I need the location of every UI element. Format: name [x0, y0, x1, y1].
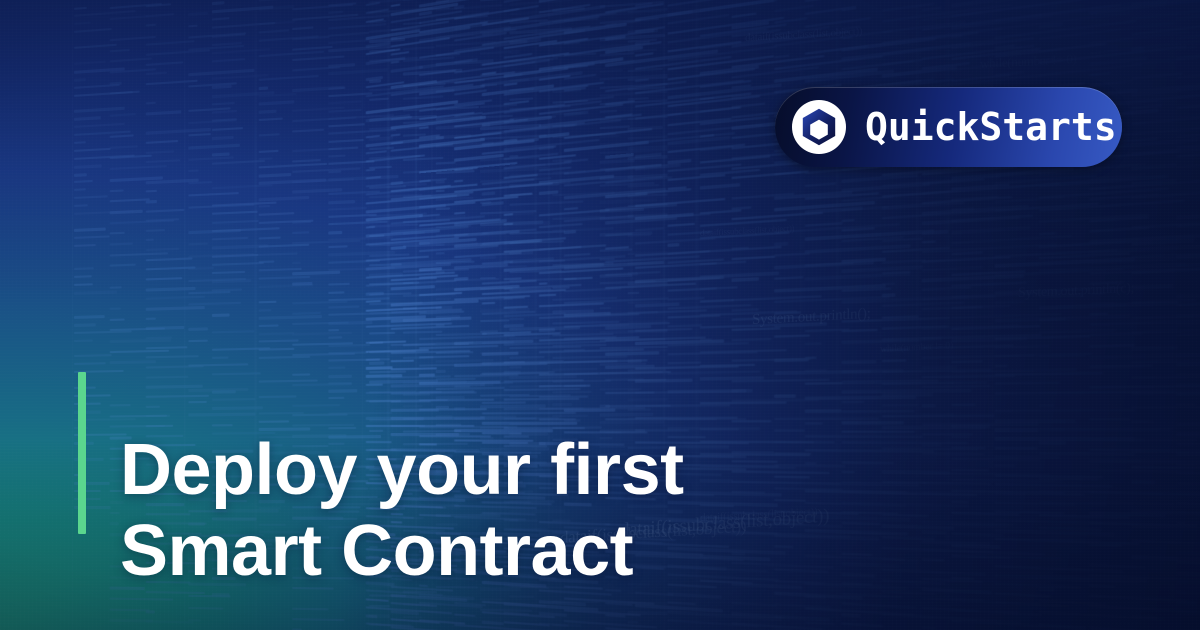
hero-banner: dataif(issubclass(list,object))dataif(is…: [0, 0, 1200, 630]
badge-label: QuickStarts: [865, 108, 1117, 146]
page-title: Deploy your first Smart Contract: [120, 430, 740, 591]
quickstarts-badge[interactable]: QuickStarts: [775, 87, 1122, 167]
chainlink-hexagon-icon: [792, 100, 846, 154]
page-title-line-1: Deploy your first: [120, 430, 740, 511]
accent-bar: [78, 372, 86, 534]
page-title-line-2: Smart Contract: [120, 511, 740, 592]
